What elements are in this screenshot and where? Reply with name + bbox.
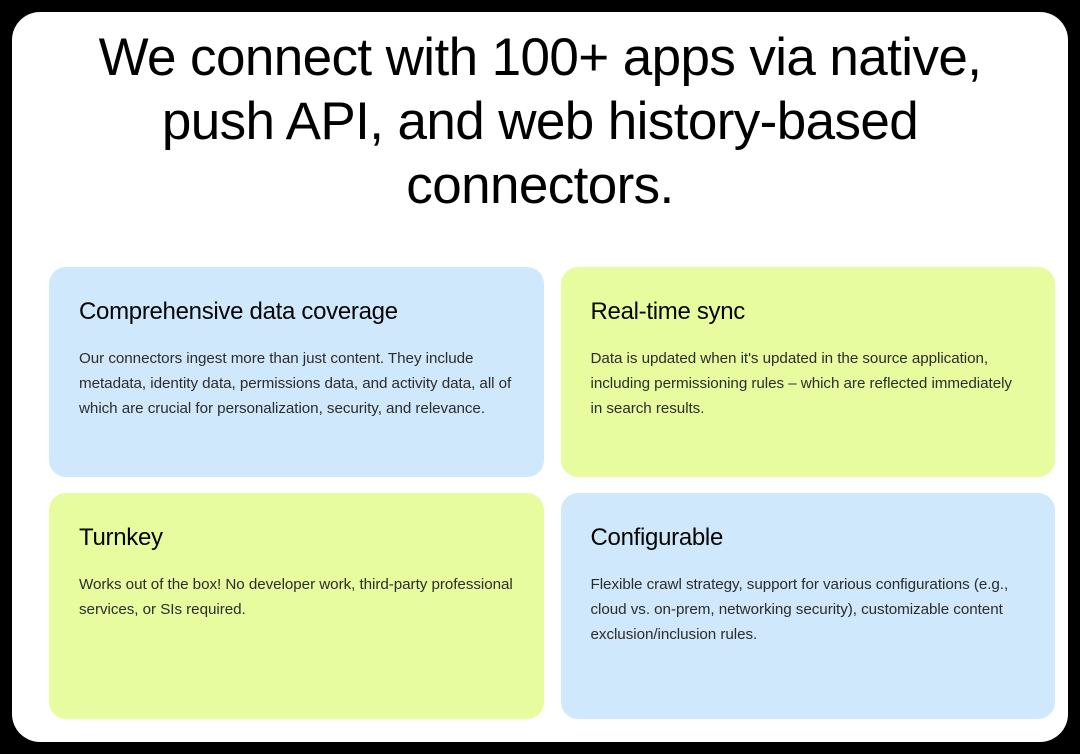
card-body: Flexible crawl strategy, support for var… [591, 572, 1026, 647]
slide-panel: We connect with 100+ apps via native, pu… [12, 12, 1068, 742]
card-title: Comprehensive data coverage [79, 297, 514, 327]
page-title: We connect with 100+ apps via native, pu… [37, 26, 1043, 218]
card-title: Real-time sync [591, 297, 1026, 327]
card-body: Our connectors ingest more than just con… [79, 346, 514, 421]
feature-card-grid: Comprehensive data coverage Our connecto… [49, 267, 1055, 719]
card-body: Works out of the box! No developer work,… [79, 572, 514, 622]
card-title: Configurable [591, 523, 1026, 553]
feature-card-configurable[interactable]: Configurable Flexible crawl strategy, su… [561, 493, 1056, 719]
card-title: Turnkey [79, 523, 514, 553]
feature-card-turnkey[interactable]: Turnkey Works out of the box! No develop… [49, 493, 544, 719]
feature-card-comprehensive-data-coverage[interactable]: Comprehensive data coverage Our connecto… [49, 267, 544, 477]
slide-content: We connect with 100+ apps via native, pu… [37, 12, 1043, 742]
card-body: Data is updated when it's updated in the… [591, 346, 1026, 421]
feature-card-real-time-sync[interactable]: Real-time sync Data is updated when it's… [561, 267, 1056, 477]
